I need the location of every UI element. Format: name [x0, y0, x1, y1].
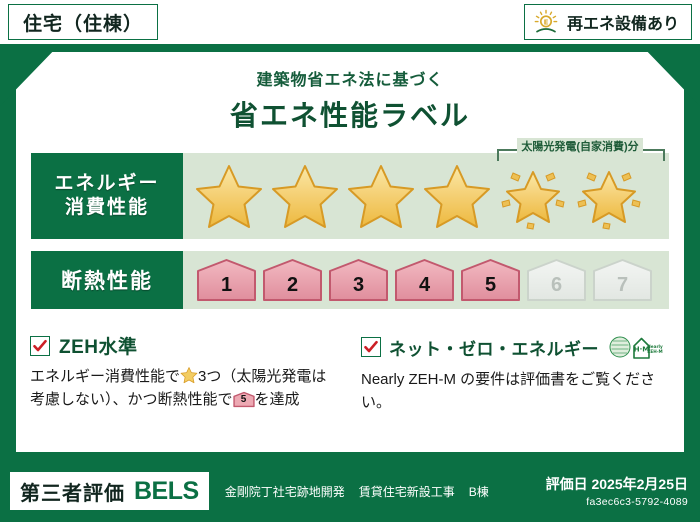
svg-text:E: E [544, 19, 549, 27]
criterion-zeh-text-1: エネルギー消費性能で [30, 368, 180, 385]
star-filled [345, 160, 417, 232]
insulation-grade-number: 3 [327, 274, 390, 297]
check-icon [32, 338, 48, 354]
certificate-uid: fa3ec6c3-5792-4089 [546, 496, 688, 508]
project-work: 賃貸住宅新設工事 [359, 483, 455, 500]
evaluation-date-label: 評価日 [546, 476, 588, 492]
third-party-label: 第三者評価 [20, 477, 125, 506]
project-name: 金剛院丁社宅跡地開発 [225, 483, 345, 500]
page-title: 省エネ性能ラベル [16, 94, 684, 134]
insulation-grade-filled: 3 [327, 258, 390, 302]
solar-caption-text: 太陽光発電(自家消費)分 [517, 138, 642, 154]
inline-house-icon: 5 [233, 391, 255, 408]
insulation-grade-filled: 2 [261, 258, 324, 302]
evaluation-date-value: 2025年2月25日 [591, 476, 688, 492]
insulation-grade-filled: 1 [195, 258, 258, 302]
energy-performance-row: エネルギー 消費性能 [30, 152, 670, 240]
criterion-zeh-title: ZEH水準 [59, 332, 138, 359]
insulation-grade-filled: 4 [393, 258, 456, 302]
criterion-nze-header: ネット・ゼロ・エネルギー H·M Nearly ZEH-M [361, 332, 670, 362]
star-filled [193, 160, 265, 232]
insulation-grade-scale: 1 2 3 4 [183, 258, 654, 302]
check-icon [363, 339, 379, 355]
energy-label-line2: 消費性能 [65, 196, 149, 220]
zeh-checkbox[interactable] [30, 336, 50, 356]
sun-renewable-icon: E [533, 9, 559, 35]
building-type-label: 住宅（住棟） [23, 9, 143, 36]
svg-text:ZEH-M: ZEH-M [647, 349, 662, 354]
energy-label-line1: エネルギー [54, 172, 159, 196]
title-subheading: 建築物省エネ法に基づく [16, 66, 684, 90]
net-zero-energy-checkbox[interactable] [361, 337, 381, 357]
energy-performance-label: 住宅（住棟） E 再エネ設備あり 建築物省エ [0, 0, 700, 522]
insulation-grade-number: 6 [525, 274, 588, 297]
insulation-grade-number: 2 [261, 274, 324, 297]
star-solar [497, 160, 569, 232]
insulation-grade-filled: 5 [459, 258, 522, 302]
criteria-section: ZEH水準 エネルギー消費性能で3つ（太陽光発電は考慮しない）、かつ断熱性能で5… [30, 332, 670, 414]
criterion-net-zero-energy: ネット・ゼロ・エネルギー H·M Nearly ZEH-M Nearly ZEH… [361, 332, 670, 414]
project-building: B棟 [469, 483, 489, 500]
footer-bar: 第三者評価 BELS 金剛院丁社宅跡地開発 賃貸住宅新設工事 B棟 評価日 20… [0, 460, 700, 522]
insulation-grade-number: 4 [393, 274, 456, 297]
star-filled [269, 160, 341, 232]
criterion-nze-title: ネット・ゼロ・エネルギー [389, 335, 599, 360]
label-card: 建築物省エネ法に基づく 省エネ性能ラベル エネルギー 消費性能 [16, 52, 684, 452]
criterion-zeh-text-3: を達成 [255, 391, 300, 408]
inline-star-icon [180, 366, 198, 384]
bels-logo-text: BELS [134, 477, 199, 506]
criterion-nze-body: Nearly ZEH-M の要件は評価書をご覧ください。 [361, 369, 670, 414]
evaluation-date: 評価日 2025年2月25日 [546, 474, 688, 494]
insulation-grade-empty: 7 [591, 258, 654, 302]
insulation-grade-number: 5 [459, 274, 522, 297]
renewable-badge-label: 再エネ設備あり [567, 10, 679, 34]
energy-stars-area: 太陽光発電(自家消費)分 [183, 153, 669, 239]
insulation-grade-empty: 6 [525, 258, 588, 302]
criterion-zeh-header: ZEH水準 [30, 332, 339, 359]
star-filled [421, 160, 493, 232]
energy-performance-label-cell: エネルギー 消費性能 [31, 153, 183, 239]
solar-caption: 太陽光発電(自家消費)分 [495, 137, 665, 155]
building-type-chip: 住宅（住棟） [8, 4, 158, 40]
evaluation-meta: 評価日 2025年2月25日 fa3ec6c3-5792-4089 [546, 474, 688, 508]
nearly-zeh-m-logo: H·M Nearly ZEH-M [607, 332, 663, 362]
rating-rows: エネルギー 消費性能 [30, 152, 670, 310]
renewable-energy-badge: E 再エネ設備あり [524, 4, 692, 40]
star-solar [573, 160, 645, 232]
star-rating [183, 160, 645, 232]
project-info: 金剛院丁社宅跡地開発 賃貸住宅新設工事 B棟 [225, 483, 489, 500]
criterion-zeh-level: ZEH水準 エネルギー消費性能で3つ（太陽光発電は考慮しない）、かつ断熱性能で5… [30, 332, 339, 414]
insulation-grades-area: 1 2 3 4 [183, 251, 669, 309]
insulation-grade-number: 7 [591, 274, 654, 297]
criterion-zeh-body: エネルギー消費性能で3つ（太陽光発電は考慮しない）、かつ断熱性能で5を達成 [30, 366, 339, 411]
insulation-performance-row: 断熱性能 1 2 [30, 250, 670, 310]
inline-house-number: 5 [233, 395, 255, 405]
insulation-label-cell: 断熱性能 [31, 251, 183, 309]
insulation-label: 断熱性能 [61, 265, 153, 295]
insulation-grade-number: 1 [195, 274, 258, 297]
top-strip: 住宅（住棟） E 再エネ設備あり [0, 0, 700, 44]
bels-certification-chip: 第三者評価 BELS [10, 472, 209, 510]
